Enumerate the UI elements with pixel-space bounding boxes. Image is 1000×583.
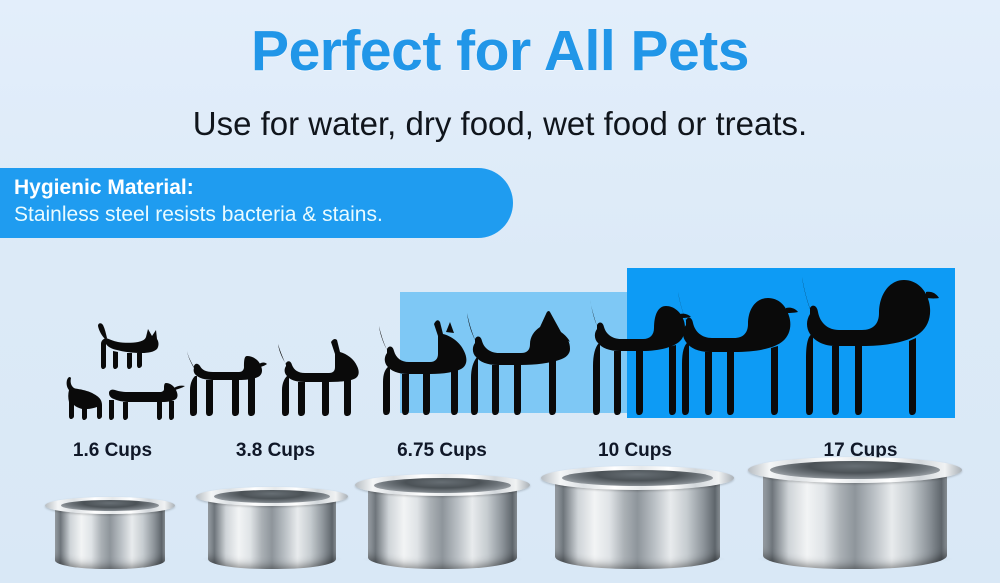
bowl-interior: [562, 470, 713, 486]
bowl-size-3: [355, 474, 530, 569]
capacity-label: 6.75 Cups: [357, 440, 527, 462]
bowl-body: [208, 498, 336, 569]
page-title: Perfect for All Pets: [0, 22, 1000, 82]
bowl-interior: [61, 500, 160, 511]
dog-silhouette-icon: [104, 379, 188, 423]
bowl-interior: [374, 478, 511, 493]
bull-terrier-silhouette: [277, 338, 363, 422]
cat-silhouette: [96, 322, 162, 380]
bowl-body: [763, 473, 947, 569]
bowl-size-4: [541, 466, 734, 569]
boxer-silhouette: [378, 318, 474, 422]
capacity-label: 10 Cups: [550, 440, 720, 462]
bowl-size-2: [196, 487, 348, 569]
dachshund-silhouette: [104, 379, 188, 423]
pointer-silhouette: [676, 290, 800, 422]
badge-description: Stainless steel resists bacteria & stain…: [14, 202, 513, 229]
bowl-body: [555, 480, 719, 569]
dog-silhouette-icon: [277, 338, 363, 422]
bowl-interior: [770, 461, 939, 479]
hygienic-material-badge: Hygienic Material: Stainless steel resis…: [0, 168, 513, 238]
infographic-page: Perfect for All Pets Use for water, dry …: [0, 0, 1000, 583]
capacity-label: 1.6 Cups: [30, 440, 195, 462]
dog-silhouette-icon: [466, 310, 578, 422]
cat-silhouette-icon: [96, 322, 162, 380]
badge-label: Hygienic Material:: [14, 175, 513, 202]
capacity-label: 3.8 Cups: [193, 440, 358, 462]
bowl-size-5: [748, 457, 962, 569]
dog-silhouette-icon: [185, 350, 269, 422]
page-subtitle: Use for water, dry food, wet food or tre…: [0, 105, 1000, 143]
great-dane-silhouette: [800, 274, 940, 422]
beagle-silhouette: [185, 350, 269, 422]
bowl-interior: [214, 490, 330, 503]
dog-silhouette-icon: [378, 318, 474, 422]
dog-silhouette-icon: [676, 290, 800, 422]
bowl-body: [368, 487, 517, 569]
bowl-size-1: [45, 497, 175, 569]
dog-silhouette-icon: [800, 274, 940, 422]
pet-silhouette-row: [0, 258, 1000, 423]
bowl-row: [0, 465, 1000, 583]
shepherd-silhouette: [466, 310, 578, 422]
bowl-body: [55, 507, 164, 569]
